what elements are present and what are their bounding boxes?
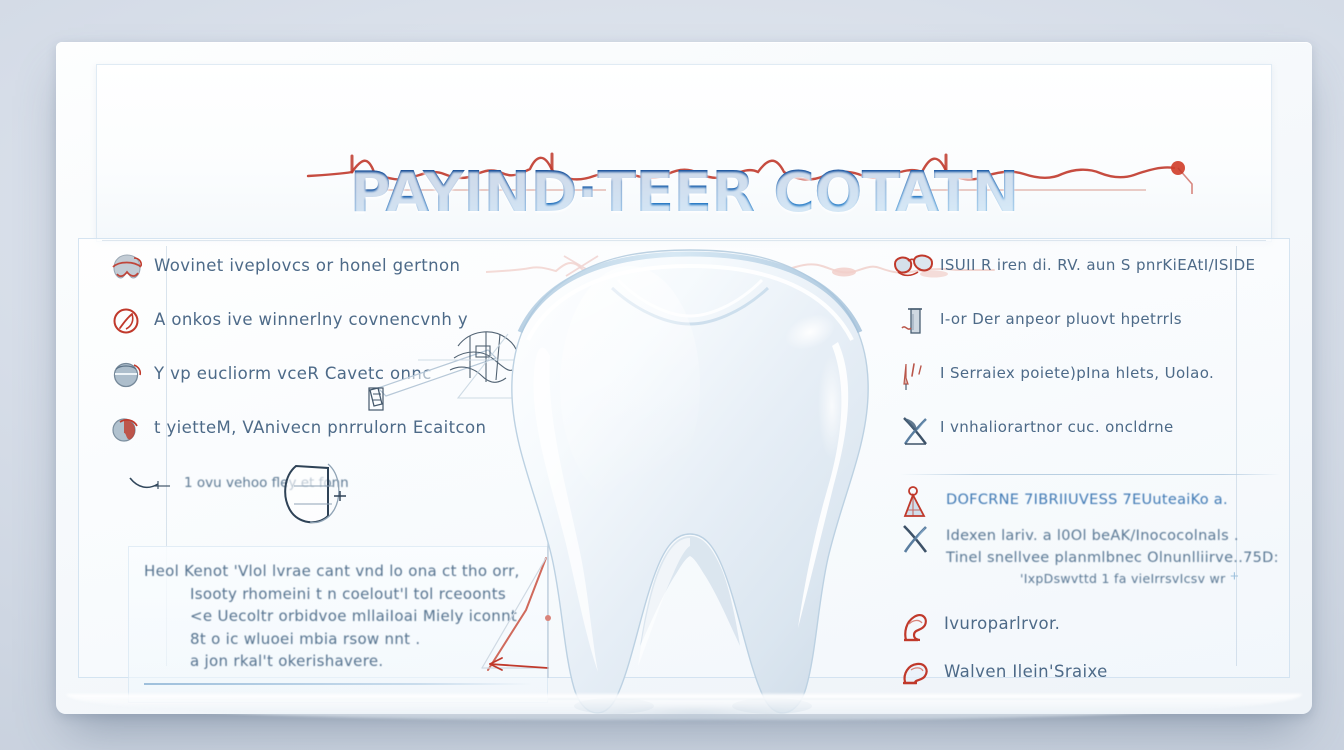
tooth-drop-shadow — [560, 700, 830, 724]
list-item-label: I-or Der anpeor pluovt hpetrrls — [940, 310, 1182, 329]
tooth-graphic-container — [480, 236, 900, 726]
crossed-tools-sketch-icon — [900, 414, 930, 444]
list-item[interactable]: I-or Der anpeor pluovt hpetrrls — [900, 310, 1270, 340]
note-line: a jon rkal't okerishavere. — [144, 650, 532, 673]
list-item-label: ISUII R iren di. RV. aun S pnrKiEAtI/ISI… — [940, 256, 1255, 275]
paper-bottom-crease — [86, 698, 1282, 700]
red-glasses-sketch-icon — [900, 252, 930, 282]
forceps-sketch-icon — [900, 610, 934, 640]
page-title: PAYIND·TEER COTATN — [84, 160, 1284, 225]
note-line: Isooty rhomeini t n coelout'l tol rceoon… — [144, 583, 532, 606]
poster-card: PAYIND·TEER COTATN + — [56, 42, 1312, 714]
note-divider — [144, 683, 532, 685]
list-item[interactable]: ISUII R iren di. RV. aun S pnrKiEAtI/ISI… — [900, 256, 1270, 286]
right-section-divider — [900, 474, 1280, 475]
right-note-heading-row: DOFCRNE 7IBRIIUVESS 7EUuteaiKo a. — [900, 490, 1280, 520]
crossed-tools-sketch-icon — [900, 522, 934, 552]
list-item-label: Ivuroparlrvor. — [944, 614, 1060, 635]
note-line: Idexen lariv. a l0Ol beAK/Inococolnals . — [946, 526, 1279, 548]
circle-crescent-sketch-icon — [110, 306, 144, 336]
half-tooth-sketch-icon — [110, 360, 144, 390]
note-line: Tinel snellvee planmlbnec Olnunlliirve..… — [946, 548, 1279, 570]
small-arrow-sketch-icon — [128, 472, 176, 494]
tube-bracket-sketch-icon — [900, 306, 930, 336]
list-item[interactable]: Ivuroparlrvor. — [900, 614, 1280, 644]
note-line: <e Uecoltr orbidvoe mllaiIoai Miely icon… — [144, 605, 532, 628]
list-item-label: t yietteM, VAnivecn pnrrulorn Ecaitcon — [154, 418, 486, 439]
list-item[interactable]: Walven Ilein'Sraixe — [900, 662, 1280, 692]
list-item-label: I Serraiex poiete)pIna hlets, Uolao. — [940, 364, 1214, 383]
list-item[interactable]: I vnhaliorartnor cuc. oncldrne — [900, 418, 1270, 448]
right-column: ISUII R iren di. RV. aun S pnrKiEAtI/ISI… — [900, 256, 1270, 472]
list-item-label: I vnhaliorartnor cuc. oncldrne — [940, 418, 1174, 437]
note-line: 8t o ic wluoei mbia rsow nnt . — [144, 628, 532, 651]
dental-mirror-sketch-icon — [900, 658, 934, 688]
molar-tooth-sketch-icon — [110, 252, 144, 282]
right-note-lines-row: Idexen lariv. a l0Ol beAK/Inococolnals .… — [900, 526, 1280, 588]
needle-drip-sketch-icon — [900, 360, 930, 390]
right-note-heading: DOFCRNE 7IBRIIUVESS 7EUuteaiKo a. — [946, 490, 1228, 512]
pin-sketch-icon — [900, 486, 934, 516]
header-band: PAYIND·TEER COTATN — [96, 64, 1272, 242]
red-tooth-sketch-icon — [110, 414, 144, 444]
list-item-label: A onkos ive winnerlny covnencvnh y — [154, 310, 468, 331]
right-note-block: DOFCRNE 7IBRIIUVESS 7EUuteaiKo a. Idexen… — [900, 490, 1280, 716]
list-item-label: Wovinet ivepIovcs or honel gertnon — [154, 256, 460, 277]
list-item-label: Y vp eucliorm vceR Cavetc onnc — [154, 364, 432, 385]
inline-caption-label: 1 ovu vehoo fley et fonn — [184, 475, 349, 491]
list-item[interactable]: I Serraiex poiete)pIna hlets, Uolao. — [900, 364, 1270, 394]
glossy-3d-molar-tooth — [480, 236, 900, 726]
note-line: Heol Kenot 'Vlol lvrae cant vnd lo ona c… — [144, 560, 532, 583]
note-line: 'IxpDswvttd 1 fa vieIrrsvIcsv wr — [946, 570, 1279, 589]
list-item-label: Walven Ilein'Sraixe — [944, 662, 1108, 683]
